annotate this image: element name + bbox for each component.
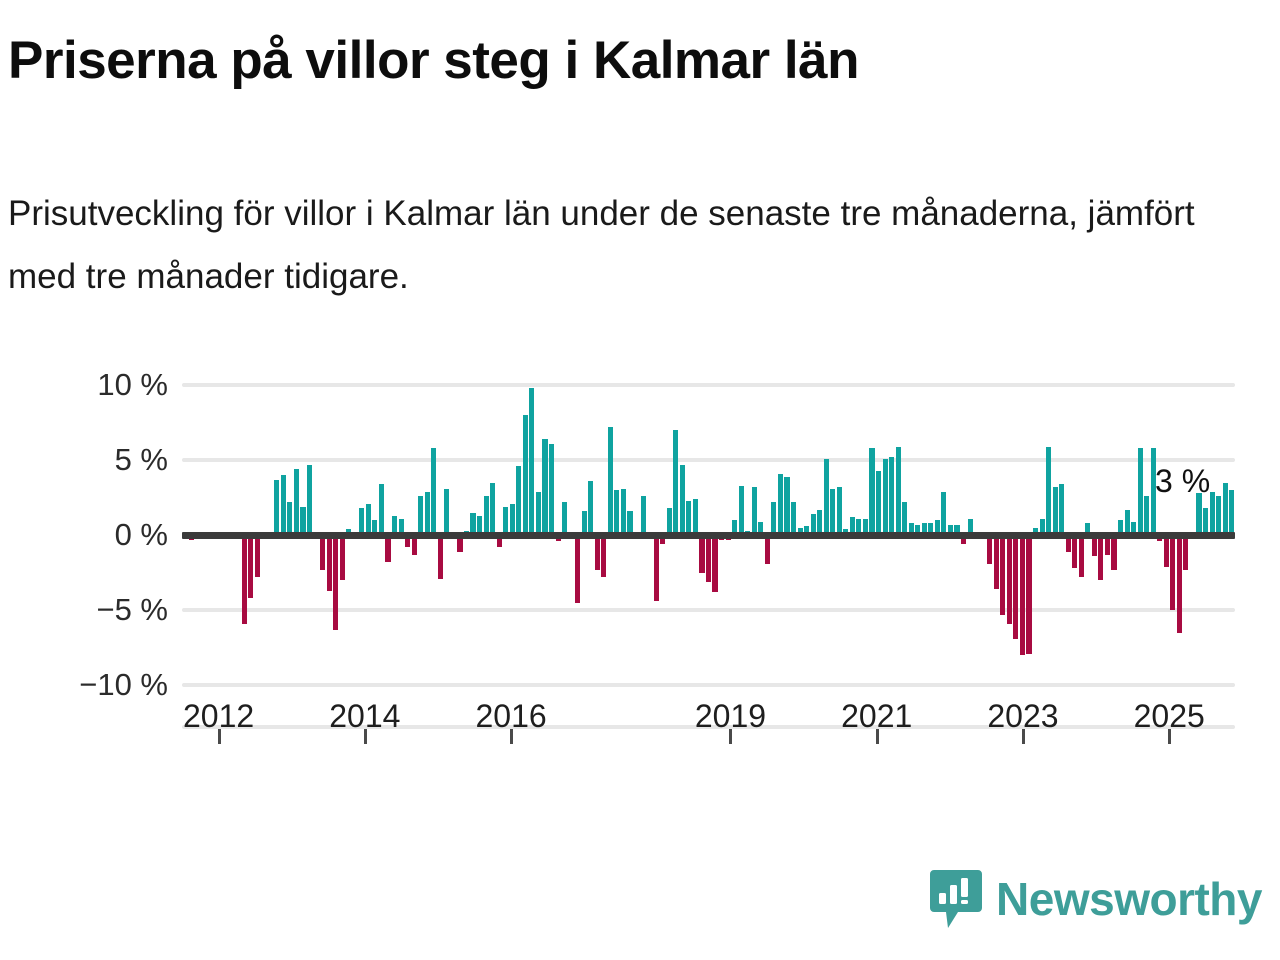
bar [1111,535,1116,570]
bar [523,415,528,535]
bar [588,481,593,535]
bar [1000,535,1005,615]
bar [601,535,606,577]
bar [542,439,547,535]
bar [693,499,698,535]
bar [425,492,430,536]
x-axis-tick-label: 2019 [695,698,766,735]
bar [1072,535,1077,568]
x-axis-tick-label: 2021 [841,698,912,735]
x-axis-tick-label: 2023 [987,698,1058,735]
bar [1210,492,1215,536]
bar [739,486,744,536]
bar [869,448,874,535]
bar [1170,535,1175,610]
newsworthy-logo: Newsworthy [930,870,1262,928]
bar [379,484,384,535]
y-axis-tick-label: −5 % [28,592,168,628]
bar [418,496,423,535]
y-axis-tick-label: −10 % [28,667,168,703]
bar [281,475,286,535]
bar [1020,535,1025,655]
bar [987,535,992,564]
x-axis-tick-label: 2014 [329,698,400,735]
bar [1223,483,1228,536]
y-axis-tick-label: 10 % [28,367,168,403]
bar [784,477,789,536]
bar [484,496,489,535]
bar [994,535,999,589]
brand-name: Newsworthy [996,876,1262,922]
bar [621,489,626,536]
bar-chart: 10 %5 %0 %−5 %−10 % 20122014201620192021… [0,350,1280,750]
bar [1053,487,1058,535]
plot-area [182,385,1235,685]
bar [654,535,659,601]
bar [1046,447,1051,536]
bar [294,469,299,535]
bar [1177,535,1182,633]
bar [366,504,371,536]
bar [595,535,600,570]
bar [765,535,770,564]
bar [1229,490,1234,535]
bar [608,427,613,535]
bar [385,535,390,562]
bar [1203,508,1208,535]
bar [431,448,436,535]
bar [516,466,521,535]
bar [1026,535,1031,654]
bar [248,535,253,598]
bar [1013,535,1018,639]
bar [562,502,567,535]
bar [837,487,842,535]
bar [1164,535,1169,567]
bar [327,535,332,591]
bar [752,487,757,535]
bar [1079,535,1084,577]
bar [255,535,260,577]
bar [1144,496,1149,535]
bar [902,502,907,535]
bar [614,490,619,535]
bar [529,388,534,535]
bar [1138,448,1143,535]
bar [1183,535,1188,570]
y-axis-tick-label: 0 % [28,517,168,553]
bar [274,480,279,536]
bar [896,447,901,536]
bar [778,474,783,536]
x-axis-tick-label: 2025 [1134,698,1205,735]
bar [771,502,776,535]
zero-axis-line [182,532,1235,539]
bar [824,459,829,536]
x-axis-tick-label: 2016 [475,698,546,735]
bar [307,465,312,536]
bar [510,504,515,536]
bar [333,535,338,630]
bar [1059,484,1064,535]
bar [287,502,292,535]
bar [941,492,946,536]
bar [699,535,704,573]
chart-page: Priserna på villor steg i Kalmar län Pri… [0,0,1280,960]
bar [686,501,691,536]
bar [1098,535,1103,580]
bar [549,444,554,536]
bar [680,465,685,536]
bar [320,535,325,570]
bar [503,507,508,536]
bar [359,508,364,535]
bar [706,535,711,582]
page-subtitle: Prisutveckling för villor i Kalmar län u… [8,182,1263,308]
bar [490,483,495,536]
bar [575,535,580,603]
bar [673,430,678,535]
bar [641,496,646,535]
last-value-annotation: 3 % [1155,463,1210,500]
bar [667,508,672,535]
bar [791,502,796,535]
bar [830,489,835,536]
page-title: Priserna på villor steg i Kalmar län [8,30,1258,92]
bar [340,535,345,580]
bar [1007,535,1012,624]
bar [712,535,717,592]
bar [889,457,894,535]
bar [444,489,449,536]
bar [536,492,541,536]
bar [883,459,888,536]
bar [876,471,881,536]
bar [242,535,247,624]
x-axis-tick-label: 2012 [183,698,254,735]
bar-chart-speech-bubble-icon [930,870,982,928]
bar [438,535,443,579]
bar [1216,496,1221,535]
bar [300,507,305,536]
y-axis-tick-label: 5 % [28,442,168,478]
